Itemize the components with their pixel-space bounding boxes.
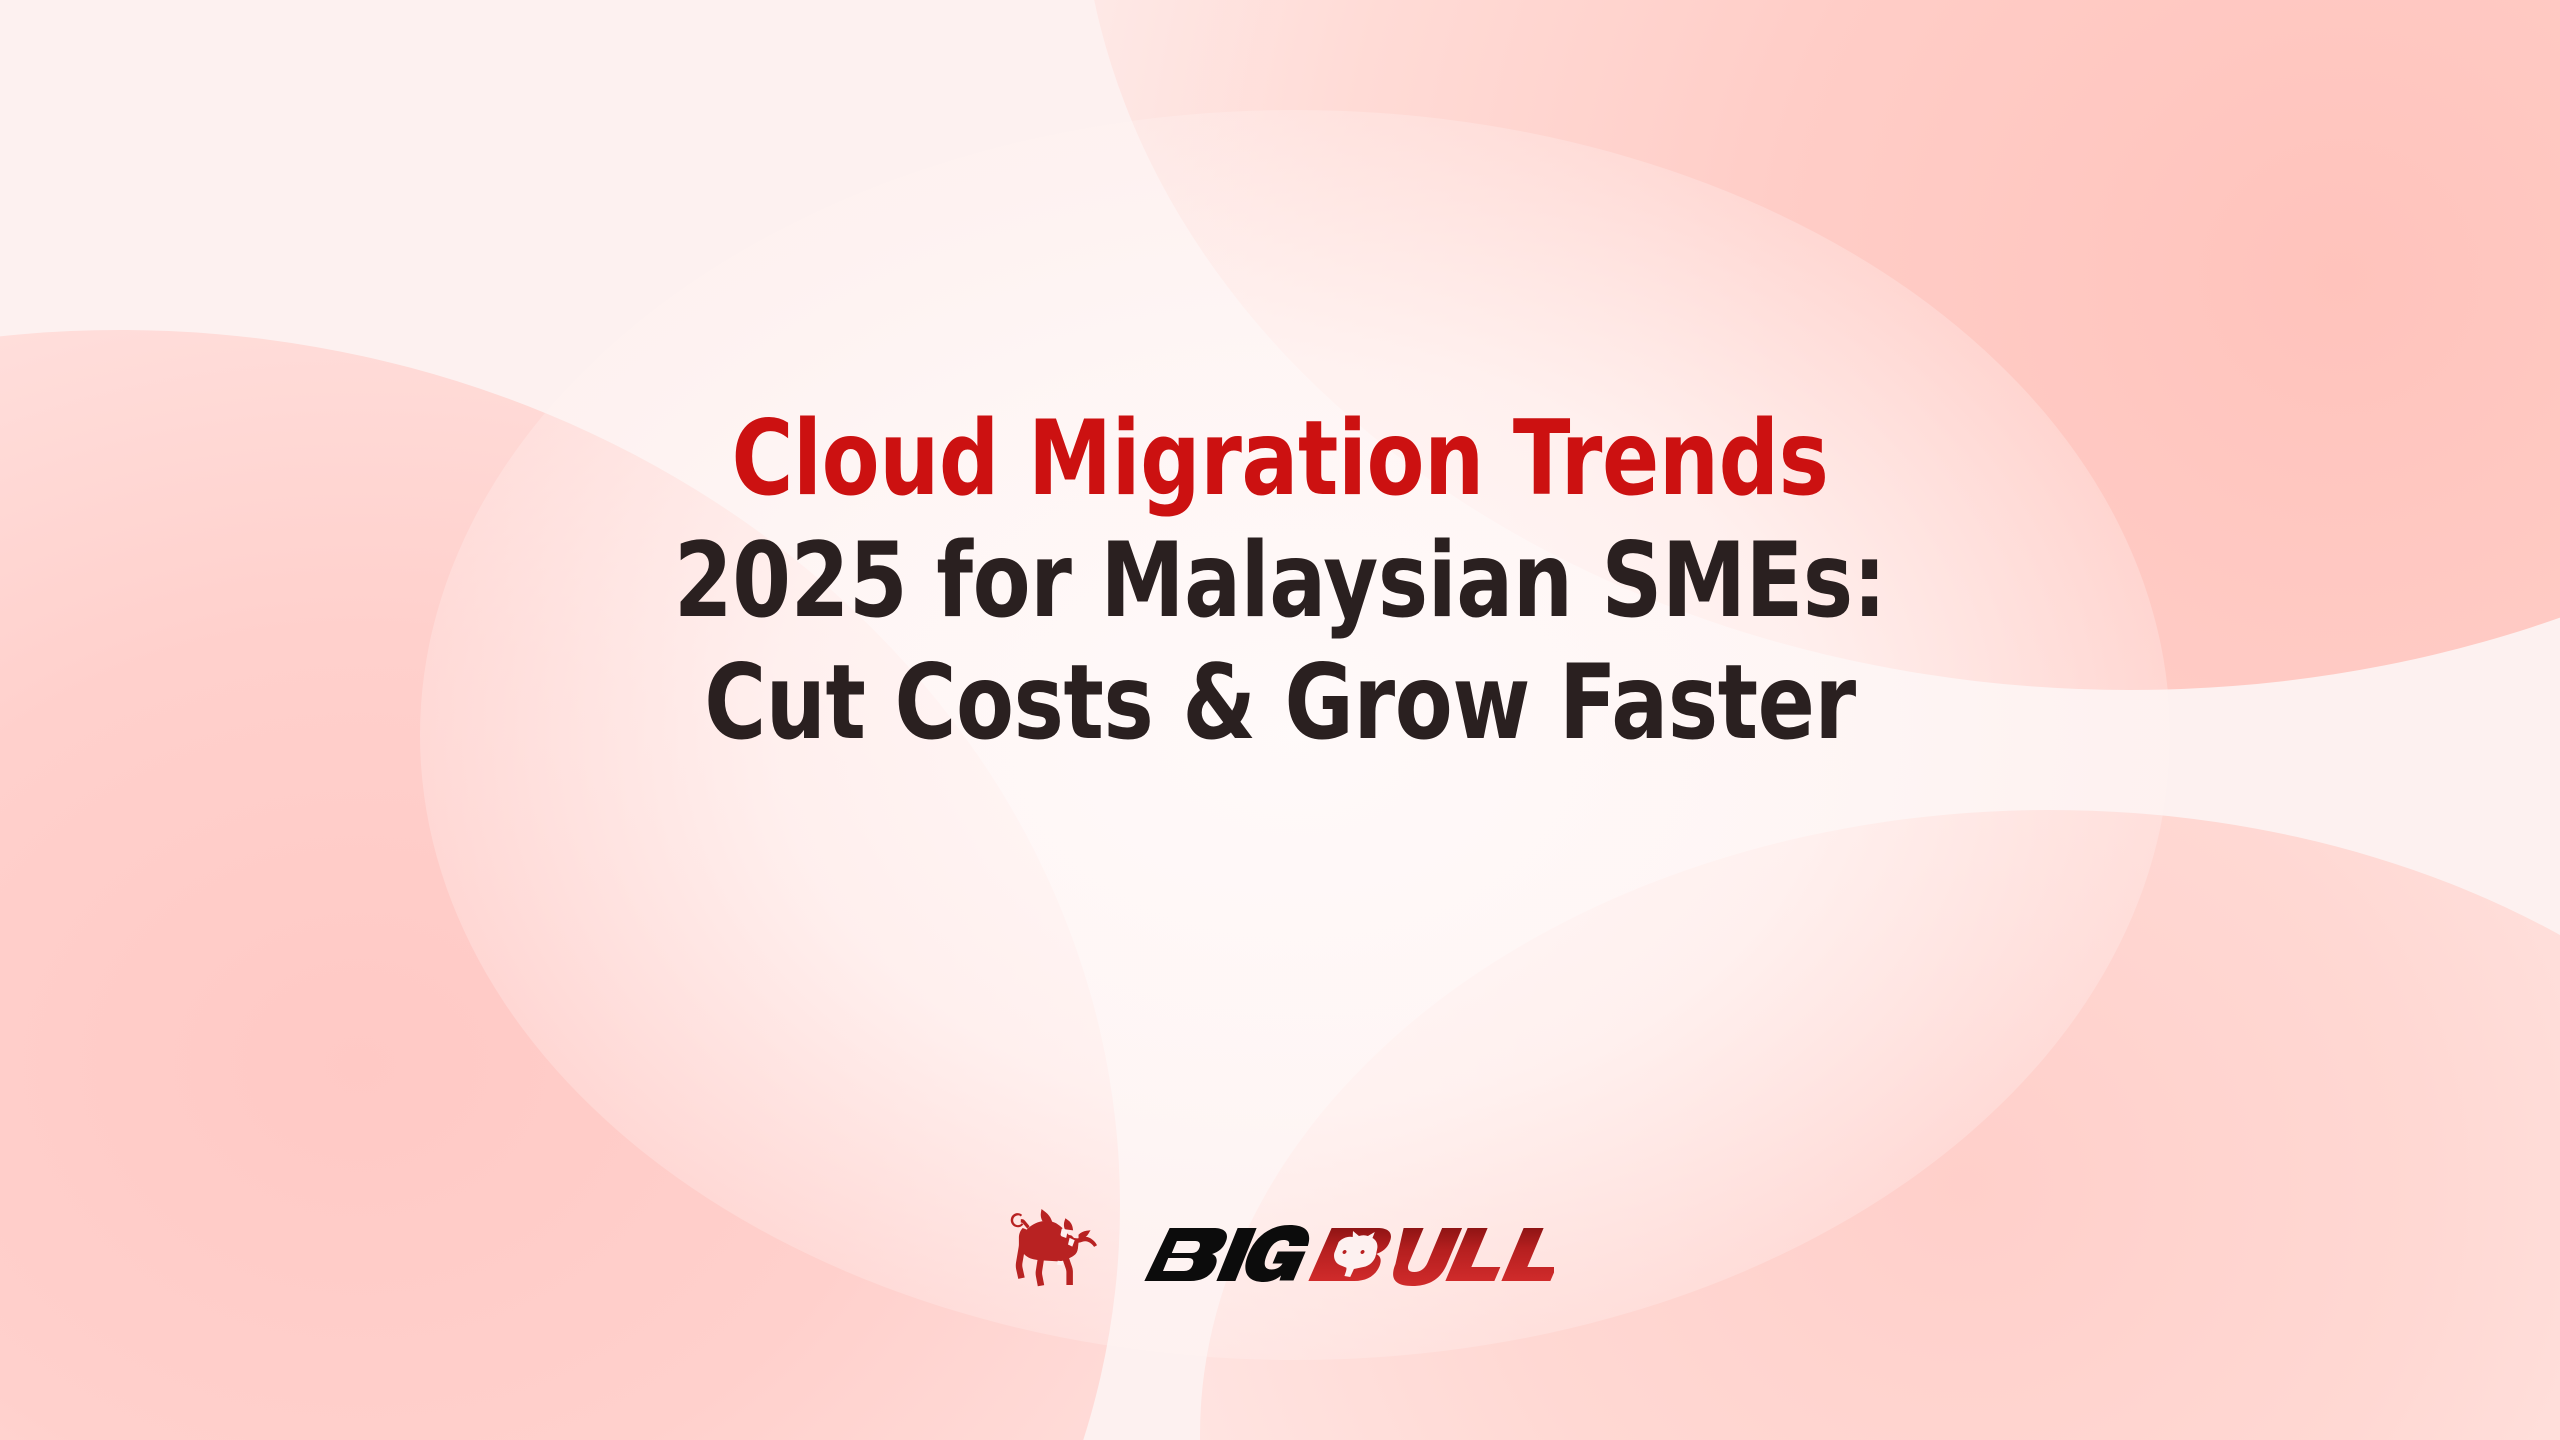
slide-content: Cloud Migration Trends 2025 for Malaysia… (0, 0, 2560, 1440)
headline-block: Cloud Migration Trends 2025 for Malaysia… (0, 398, 2560, 764)
headline-line-1: Cloud Migration Trends (230, 398, 2329, 520)
letter-B-bull (1308, 1228, 1393, 1281)
letter-L2-bull (1501, 1228, 1554, 1281)
bigbull-wordmark (1142, 1198, 1554, 1302)
headline-line-2: 2025 for Malaysian SMEs: (230, 520, 2329, 642)
brand-logo (1006, 1196, 1554, 1304)
slide-canvas: Cloud Migration Trends 2025 for Malaysia… (0, 0, 2560, 1440)
charging-bull-icon (1006, 1198, 1124, 1302)
headline-line-3: Cut Costs & Grow Faster (230, 642, 2329, 764)
letter-B-big (1144, 1228, 1229, 1281)
